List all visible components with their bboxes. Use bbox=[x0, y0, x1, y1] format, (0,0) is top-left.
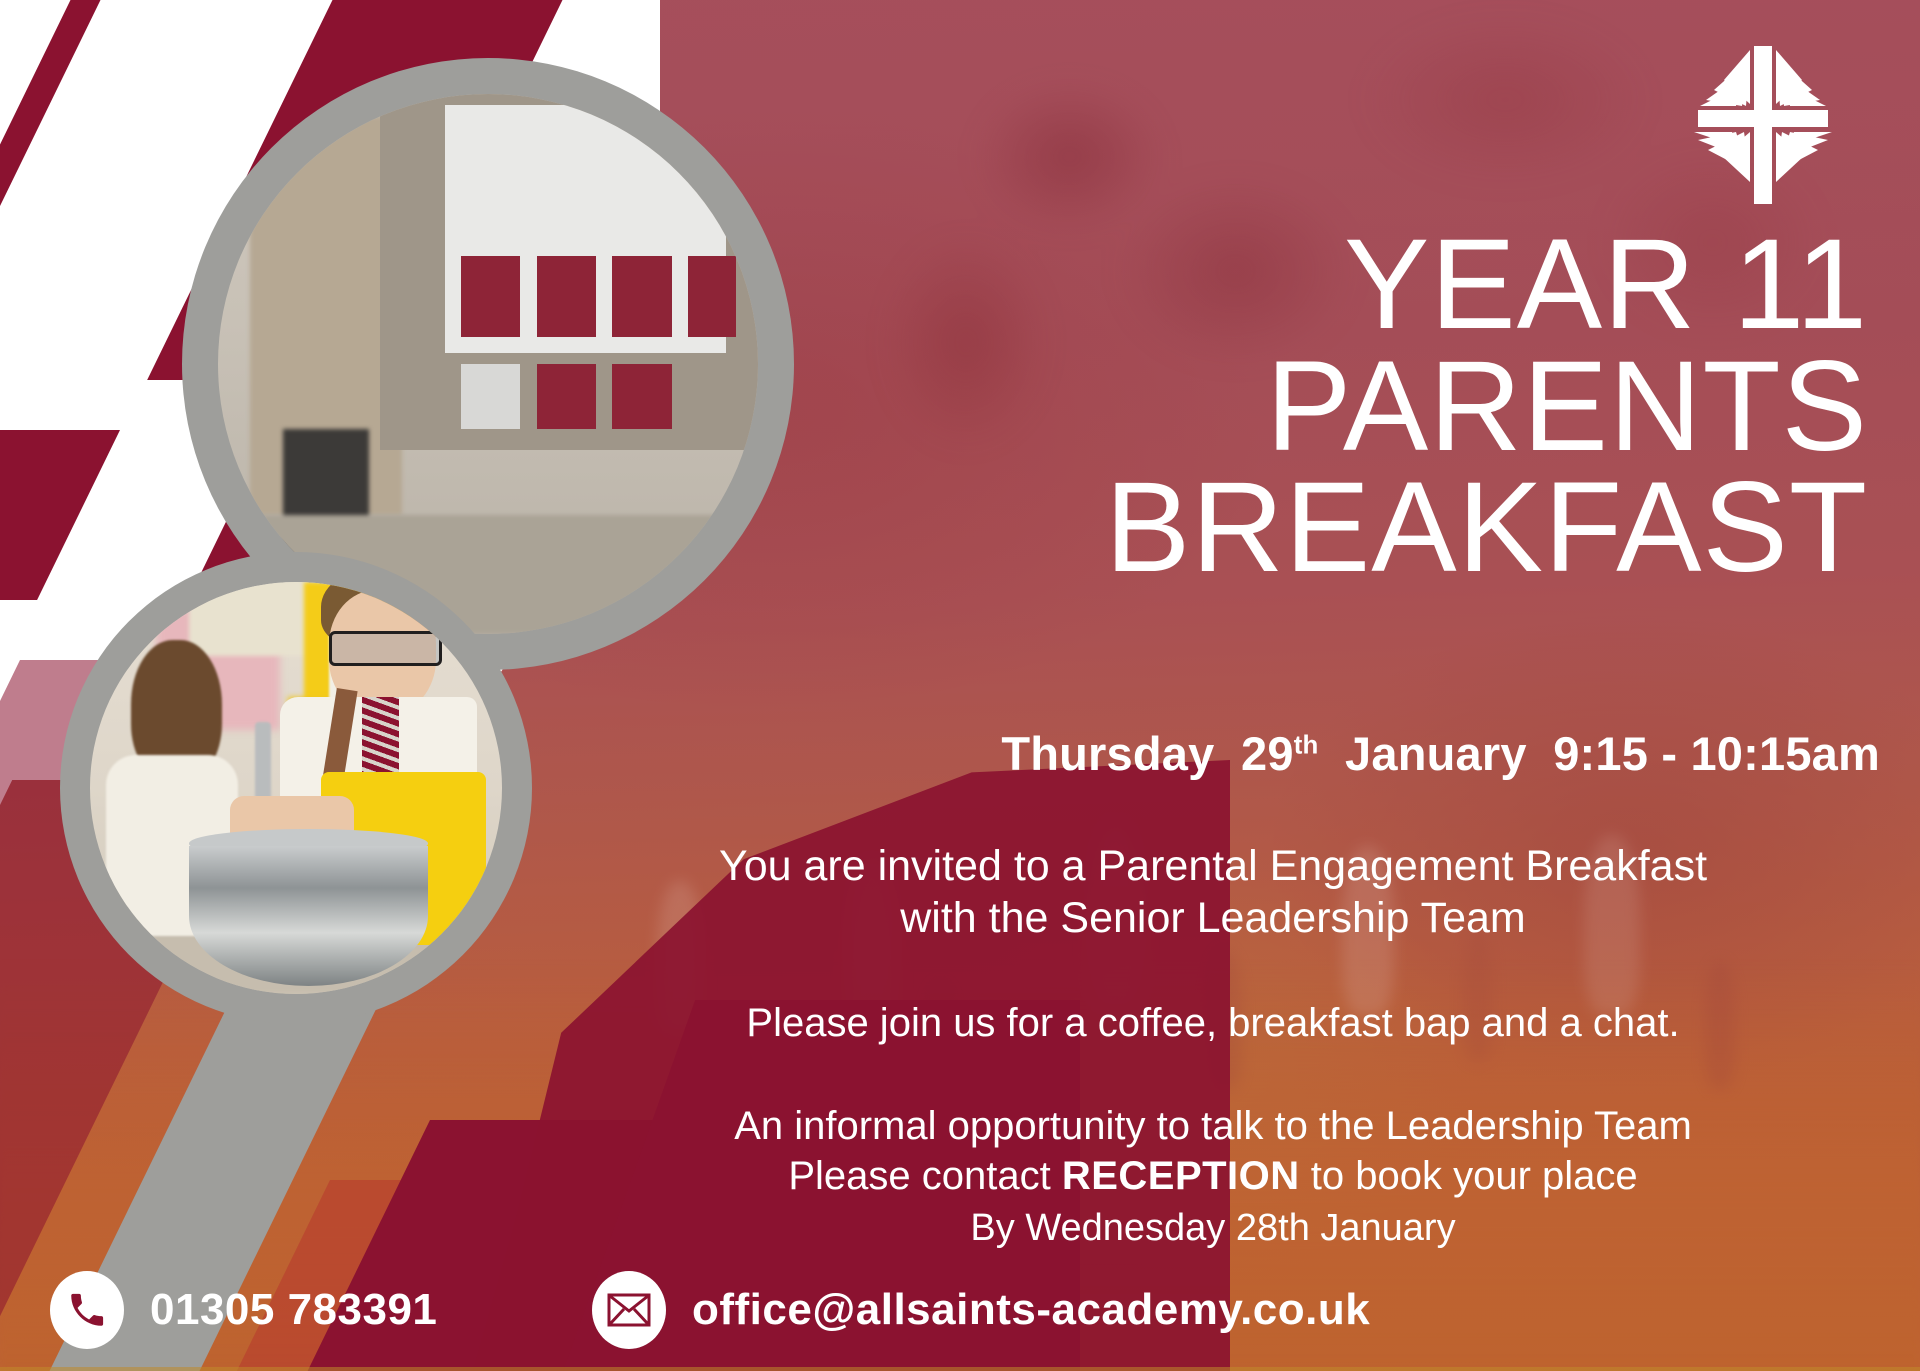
phone-icon bbox=[50, 1271, 124, 1349]
booking-suffix: to book your place bbox=[1300, 1154, 1638, 1198]
informal-line: An informal opportunity to talk to the L… bbox=[734, 1104, 1692, 1148]
invite-line-2: with the Senior Leadership Team bbox=[900, 894, 1525, 942]
event-month: January bbox=[1345, 727, 1527, 780]
poster-canvas: YEAR 11 PARENTS BREAKFAST Thursday 29th … bbox=[0, 0, 1920, 1371]
contact-email[interactable]: office@allsaints-academy.co.uk bbox=[592, 1271, 1370, 1349]
glasses-icon bbox=[329, 631, 442, 666]
body-copy: You are invited to a Parental Engagement… bbox=[548, 840, 1878, 1253]
invite-line-1: You are invited to a Parental Engagement… bbox=[719, 842, 1707, 890]
footer-hairline bbox=[0, 1367, 1920, 1371]
booking-emphasis: RECEPTION bbox=[1062, 1154, 1300, 1198]
headline-line-3: BREAKFAST bbox=[808, 467, 1868, 589]
offer-line: Please join us for a coffee, breakfast b… bbox=[548, 999, 1878, 1047]
photo-circle-pupil-cooking bbox=[60, 552, 532, 1024]
booking-prefix: Please contact bbox=[788, 1154, 1062, 1198]
contact-phone[interactable]: 01305 783391 bbox=[50, 1271, 437, 1349]
radiant-cross-logo bbox=[1684, 28, 1842, 204]
headline-line-2: PARENTS bbox=[808, 346, 1868, 468]
event-time: 9:15 - 10:15am bbox=[1553, 727, 1880, 780]
page-title: YEAR 11 PARENTS BREAKFAST bbox=[808, 224, 1868, 589]
phone-number: 01305 783391 bbox=[150, 1285, 437, 1335]
event-day: Thursday bbox=[1001, 727, 1214, 780]
email-address: office@allsaints-academy.co.uk bbox=[692, 1285, 1370, 1335]
event-date-number: 29 bbox=[1241, 727, 1294, 780]
booking-deadline: By Wednesday 28th January bbox=[970, 1207, 1455, 1249]
headline-line-1: YEAR 11 bbox=[808, 224, 1868, 346]
event-date-time: Thursday 29th January 9:15 - 10:15am bbox=[680, 726, 1880, 781]
event-date-ordinal: th bbox=[1294, 731, 1319, 759]
envelope-icon bbox=[592, 1271, 666, 1349]
photo-pupil-cooking bbox=[90, 582, 502, 994]
